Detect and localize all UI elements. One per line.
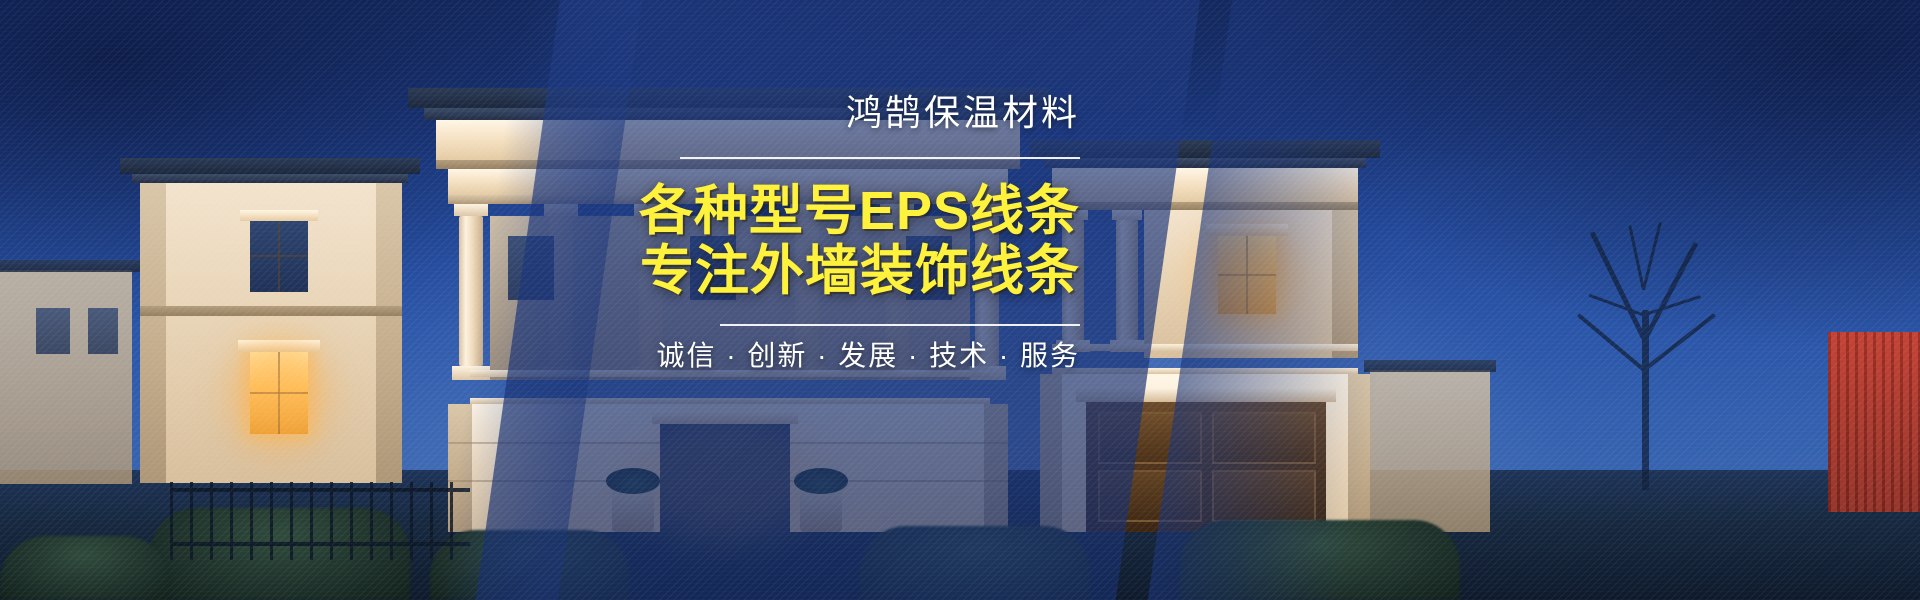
divider-top [680, 157, 1080, 159]
tagline: 诚信 · 创新 · 发展 · 技术 · 服务 [560, 342, 1080, 370]
divider-bottom [720, 324, 1080, 326]
bare-tree [1530, 190, 1770, 490]
red-container [1828, 332, 1920, 512]
hero-banner: 鸿鹄保温材料 各种型号EPS线条 专注外墙装饰线条 诚信 · 创新 · 发展 ·… [0, 0, 1920, 600]
headline-line-2: 专注外墙装饰线条 [560, 241, 1080, 301]
iron-fence [170, 482, 470, 560]
brand-name: 鸿鹄保温材料 [560, 95, 1080, 131]
headline-line-1: 各种型号EPS线条 [560, 181, 1080, 241]
banner-copy: 鸿鹄保温材料 各种型号EPS线条 专注外墙装饰线条 诚信 · 创新 · 发展 ·… [560, 95, 1080, 370]
hedge-far-left [0, 536, 170, 600]
